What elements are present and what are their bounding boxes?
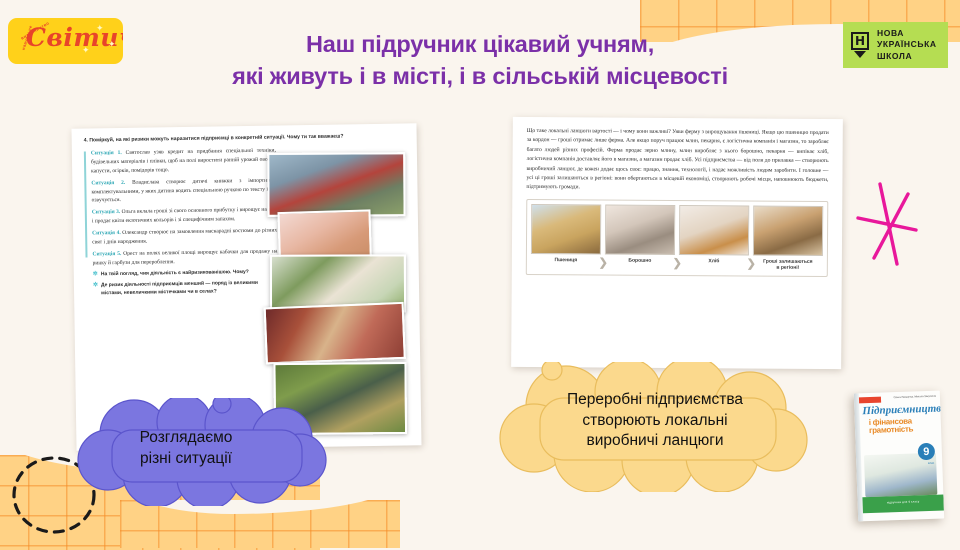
gear-bullet-icon: ✲ [93,272,98,280]
situation-item: Ситуація 3. Ольга вклала гроші зі свого … [92,206,277,227]
chain-image-wheat [531,204,601,254]
chain-image-row [531,204,823,256]
chain-cell [531,204,601,254]
chain-label-bread: Хліб ❯ [679,258,749,272]
speech-cloud-left-text: Розглядаємо різні ситуації [96,428,276,469]
chain-cell [753,205,823,255]
task-text: Поміркуй, на які ризики можуть наразитис… [89,133,343,143]
publisher-mark-badge [859,397,881,404]
grid-paper-bottom-middle [120,500,400,548]
situation-item: Ситуація 5. Орест на полях великої площі… [92,247,277,268]
chain-label-money: Гроші залишаються в регіоні! [753,258,823,272]
situations-list: Ситуація 1. Святослав узяв кредит на при… [84,146,278,297]
chain-cell [605,204,675,254]
situation-label: Ситуація 5. [92,251,121,257]
situation-label: Ситуація 4. [92,230,121,236]
right-textbook-page: Що таке локальні ланцюги вартості — і чо… [511,117,843,369]
chain-label-wheat: Пшениця ❯ [531,257,601,271]
situation-item: Ситуація 1. Святослав узяв кредит на при… [91,146,276,176]
book-title-line-2: і фінансова грамотність [869,417,936,436]
chain-label-text: Гроші залишаються в регіоні! [763,258,813,271]
page-photo-farmers-tractor [267,152,405,217]
question-text: Де ризик діяльності підприємців менший —… [101,280,278,298]
title-line-2: які живуть і в місті, і в сільській місц… [0,60,960,92]
title-line-1: Наш підручник цікавий учням, [0,28,960,60]
book-title-line-1: Підприємництво [862,404,936,417]
question-item: ✲ На твій погляд, чия діяльність є найри… [93,269,278,279]
chain-image-shop [753,205,823,255]
chain-image-bread [679,205,749,255]
chain-label-text: Пшениця [555,257,578,263]
chain-cell [679,205,749,255]
book-authors: Ольга Ремарчук, Микола Закусілов [884,395,936,400]
chain-image-flour [605,204,675,254]
page-title: Наш підручник цікавий учням, які живуть … [0,28,960,93]
situation-label: Ситуація 1. [91,150,122,156]
question-item: ✲ Де ризик діяльності підприємців менший… [93,280,278,298]
chain-label-text: Хліб [708,258,719,264]
situation-text: Ольга вклала гроші зі свого основного пр… [92,207,277,225]
value-chain-diagram: Пшениця ❯ Борошно ❯ Хліб ❯ Гроші залишаю… [526,199,829,278]
task-number: 4. [84,137,88,143]
book-bottom-bar-text: підручник для 9 класу [863,498,944,505]
sparkle-asterisk-icon [852,178,922,270]
situation-item: Ситуація 4. Олександр створює на замовле… [92,227,277,248]
chain-label-text: Борошно [628,257,651,263]
book-bottom-bar: підручник для 9 класу [862,494,944,513]
chain-label-flour: Борошно ❯ [605,257,675,271]
situation-label: Ситуація 2. [91,180,125,187]
textbook-cover[interactable]: Ольга Ремарчук, Микола Закусілов Підприє… [854,391,944,522]
situation-label: Ситуація 3. [92,209,120,215]
task-prompt: 4. Поміркуй, на які ризики можуть нарази… [84,132,407,145]
situation-item: Ситуація 2. Владислава створює дитячі кн… [91,176,276,206]
chain-label-row: Пшениця ❯ Борошно ❯ Хліб ❯ Гроші залишаю… [531,257,823,273]
gear-bullet-icon: ✲ [93,283,98,298]
value-chain-paragraph: Що таке локальні ланцюги вартості — і чо… [526,127,828,195]
question-text: На твій погляд, чия діяльність є найризи… [101,269,249,279]
book-grade-subtitle: клас [928,461,934,465]
speech-cloud-right-text: Переробні підприємства створюють локальн… [524,390,786,452]
page-photo-costumes-market [264,302,406,365]
